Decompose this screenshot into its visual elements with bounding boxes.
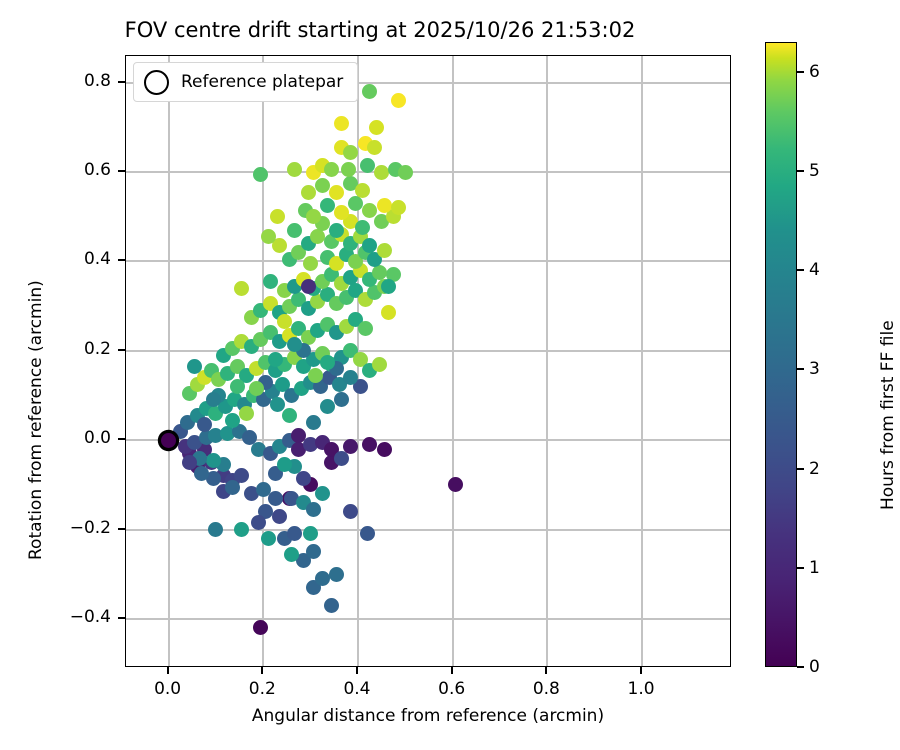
scatter-point (301, 185, 316, 200)
y-axis-tick (118, 259, 125, 261)
colorbar-tick-label: 6 (809, 62, 820, 82)
y-axis-tick (118, 617, 125, 619)
x-axis-tick-label: 0.0 (128, 679, 208, 699)
scatter-point (287, 337, 302, 352)
y-axis-tick-label: −0.2 (41, 518, 111, 538)
x-axis-title: Angular distance from reference (arcmin) (125, 706, 731, 726)
scatter-point (249, 381, 264, 396)
y-axis-tick-label: 0.6 (41, 160, 111, 180)
scatter-point (272, 509, 287, 524)
x-axis-tick-label: 0.8 (506, 679, 586, 699)
scatter-point (315, 571, 330, 586)
colorbar-title: Hours from first FF file (878, 320, 898, 510)
scatter-point (360, 158, 375, 173)
scatter-point (310, 229, 325, 244)
gridline-horizontal (126, 618, 730, 620)
colorbar-tick-label: 1 (809, 558, 820, 578)
scatter-point (256, 482, 271, 497)
reference-platepar-point (161, 433, 176, 448)
colorbar-tick (797, 269, 804, 271)
scatter-point (303, 526, 318, 541)
y-axis-tick (118, 528, 125, 530)
scatter-point (306, 209, 321, 224)
scatter-point (381, 305, 396, 320)
gridline-vertical (546, 56, 548, 666)
gridline-vertical (641, 56, 643, 666)
scatter-point (315, 486, 330, 501)
x-axis-tick (356, 667, 358, 674)
scatter-point (320, 355, 335, 370)
scatter-point (324, 162, 339, 177)
plot-area (125, 55, 731, 667)
scatter-point (320, 198, 335, 213)
scatter-point (253, 167, 268, 182)
colorbar: 0123456 (765, 42, 797, 667)
scatter-point (377, 442, 392, 457)
scatter-point (230, 379, 245, 394)
scatter-point (381, 279, 396, 294)
legend-label: Reference platepar (181, 72, 343, 92)
x-axis-tick (167, 667, 169, 674)
scatter-point (372, 265, 387, 280)
scatter-point (287, 162, 302, 177)
scatter-point (348, 196, 363, 211)
scatter-point (372, 357, 387, 372)
scatter-point (374, 165, 389, 180)
scatter-point (341, 162, 356, 177)
colorbar-tick-label: 4 (809, 260, 820, 280)
legend: Reference platepar (133, 62, 358, 102)
scatter-point (261, 531, 276, 546)
scatter-point (208, 522, 223, 537)
scatter-point (225, 480, 240, 495)
scatter-point (334, 116, 349, 131)
scatter-point (308, 368, 323, 383)
scatter-point (391, 200, 406, 215)
scatter-point (448, 477, 463, 492)
colorbar-tick (797, 368, 804, 370)
scatter-point (362, 84, 377, 99)
y-axis-tick (118, 349, 125, 351)
scatter-point (284, 547, 299, 562)
scatter-point (270, 209, 285, 224)
colorbar-tick (797, 71, 804, 73)
scatter-point (329, 567, 344, 582)
scatter-point (263, 274, 278, 289)
scatter-point (282, 408, 297, 423)
colorbar-tick-label: 0 (809, 657, 820, 677)
scatter-point (225, 413, 240, 428)
scatter-point (324, 598, 339, 613)
scatter-point (334, 205, 349, 220)
colorbar-gradient (765, 42, 797, 667)
scatter-point (369, 120, 384, 135)
x-axis-tick (545, 667, 547, 674)
scatter-point (377, 243, 392, 258)
scatter-point (234, 281, 249, 296)
scatter-point (360, 526, 375, 541)
scatter-point (206, 453, 221, 468)
scatter-point (329, 223, 344, 238)
gridline-horizontal (126, 171, 730, 173)
scatter-point (358, 321, 373, 336)
scatter-point (391, 93, 406, 108)
scatter-point (268, 352, 283, 367)
y-axis-tick-label: −0.4 (41, 607, 111, 627)
scatter-point (355, 220, 370, 235)
scatter-point (234, 522, 249, 537)
scatter-point (315, 178, 330, 193)
scatter-point (362, 437, 377, 452)
scatter-point (334, 392, 349, 407)
scatter-point (239, 406, 254, 421)
scatter-point (270, 397, 285, 412)
colorbar-tick (797, 170, 804, 172)
scatter-point (306, 502, 321, 517)
x-axis-tick (451, 667, 453, 674)
gridline-horizontal (126, 260, 730, 262)
colorbar-tick (797, 666, 804, 668)
scatter-point (362, 203, 377, 218)
colorbar-tick-label: 2 (809, 459, 820, 479)
scatter-point (367, 140, 382, 155)
y-axis-tick-label: 0.2 (41, 339, 111, 359)
scatter-point (303, 256, 318, 271)
scatter-point (398, 165, 413, 180)
gridline-vertical (452, 56, 454, 666)
x-axis-tick-label: 0.2 (222, 679, 302, 699)
y-axis-tick-label: 0.4 (41, 249, 111, 269)
scatter-point (320, 399, 335, 414)
y-axis-tick-label: 0.8 (41, 71, 111, 91)
x-axis-tick (640, 667, 642, 674)
scatter-point (187, 359, 202, 374)
scatter-point (377, 198, 392, 213)
scatter-point (261, 229, 276, 244)
colorbar-tick-label: 5 (809, 161, 820, 181)
colorbar-tick-label: 3 (809, 359, 820, 379)
gridline-vertical (168, 56, 170, 666)
scatter-point (355, 183, 370, 198)
scatter-point (253, 620, 268, 635)
scatter-point (287, 526, 302, 541)
x-axis-tick-label: 0.6 (412, 679, 492, 699)
colorbar-tick (797, 567, 804, 569)
colorbar-tick (797, 468, 804, 470)
scatter-point (306, 415, 321, 430)
chart-title: FOV centre drift starting at 2025/10/26 … (0, 18, 760, 42)
scatter-point (301, 279, 316, 294)
scatter-plot-figure: FOV centre drift starting at 2025/10/26 … (0, 0, 900, 750)
scatter-point (329, 185, 344, 200)
y-axis-tick (118, 81, 125, 83)
scatter-point (287, 223, 302, 238)
reference-platepar-marker-icon (144, 70, 169, 95)
y-axis-tick-label: 0.0 (41, 428, 111, 448)
scatter-point (306, 544, 321, 559)
x-axis-tick-label: 1.0 (601, 679, 681, 699)
scatter-point (197, 417, 212, 432)
y-axis-tick (118, 170, 125, 172)
x-axis-tick (261, 667, 263, 674)
x-axis-tick-label: 0.4 (317, 679, 397, 699)
y-axis-tick (118, 438, 125, 440)
scatter-point (343, 145, 358, 160)
